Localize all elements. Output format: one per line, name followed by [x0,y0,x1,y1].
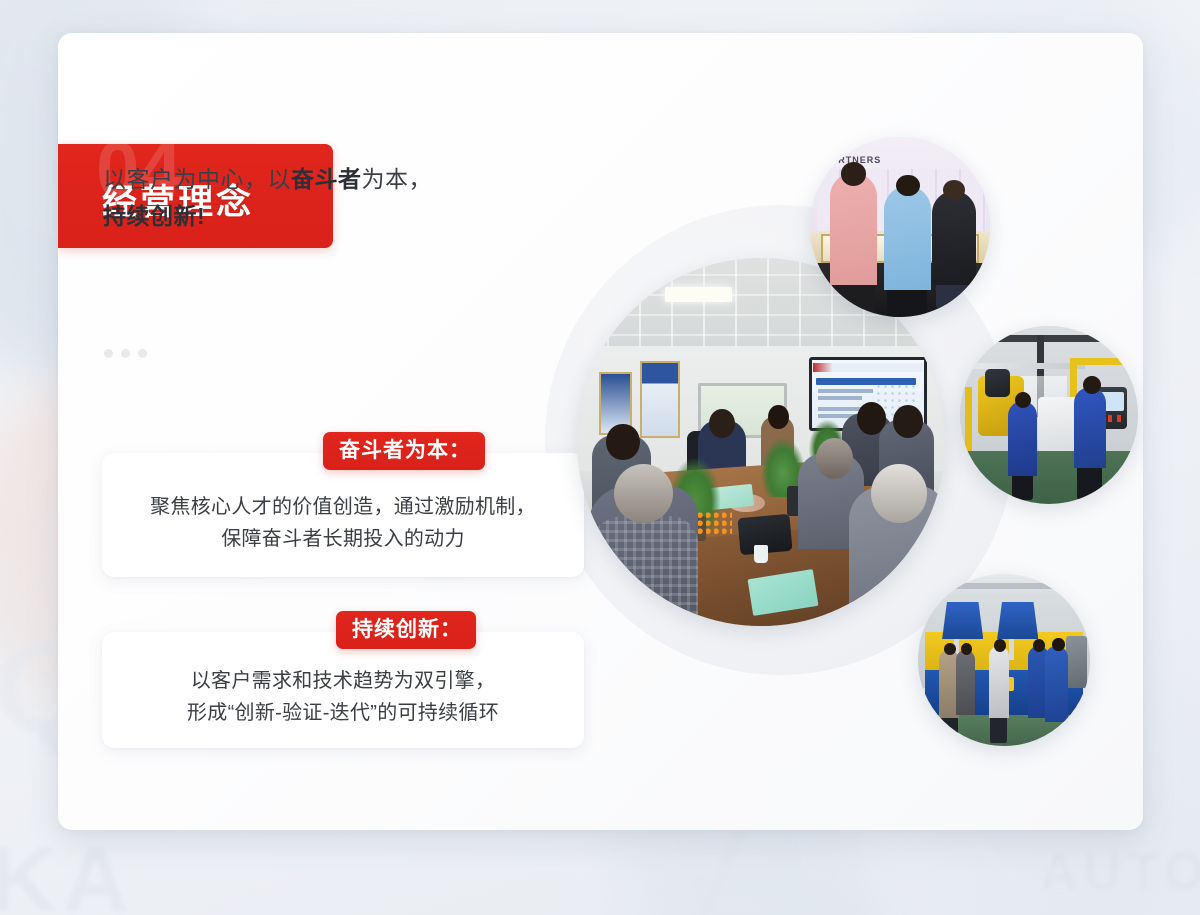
bg-word-auto: AUTO [1040,842,1200,902]
dot-3 [138,349,147,358]
subtitle-plain-b: 为本， [362,166,433,192]
section-subtitle: 以客户为中心，以奋斗者为本， 持续创新! [103,161,573,236]
photo-robot-cell-content [960,326,1138,504]
dot-2 [121,349,130,358]
photo-partners-booth-content: PARTNERS [810,137,990,317]
subtitle-plain-a: 以客户为中心，以 [103,166,291,192]
slide-card: 04 经营理念 以客户为中心，以奋斗者为本， 持续创新! 奋斗者为本： 聚焦核心… [58,33,1143,830]
photo-partners-booth: PARTNERS [810,137,990,317]
photo-robot-cell [960,326,1138,504]
info-card-strivers: 奋斗者为本： 聚焦核心人才的价值创造，通过激励机制， 保障奋斗者长期投入的动力 [102,453,584,577]
subtitle-bold: 奋斗者 [291,166,362,192]
info-line-2: 保障奋斗者长期投入的动力 [221,523,465,555]
photo-press-line [918,574,1090,746]
info-card-body-strivers: 聚焦核心人才的价值创造，通过激励机制， 保障奋斗者长期投入的动力 [102,453,584,577]
info-card-body-innovation: 以客户需求和技术趋势为双引擎， 形成“创新-验证-迭代”的可持续循环 [102,632,584,748]
info-line-2: 形成“创新-验证-迭代”的可持续循环 [187,697,499,729]
info-card-innovation: 持续创新： 以客户需求和技术趋势为双引擎， 形成“创新-验证-迭代”的可持续循环 [102,632,584,748]
subtitle-line-1: 以客户为中心，以奋斗者为本， [103,161,573,198]
info-line-1: 以客户需求和技术趋势为双引擎， [191,665,496,697]
bg-word-ka: KA [0,828,135,915]
info-line-1: 聚焦核心人才的价值创造，通过激励机制， [150,491,536,523]
subtitle-line-2: 持续创新! [103,198,573,235]
dot-1 [104,349,113,358]
decorative-dots [104,349,147,358]
photo-press-line-content [918,574,1090,746]
